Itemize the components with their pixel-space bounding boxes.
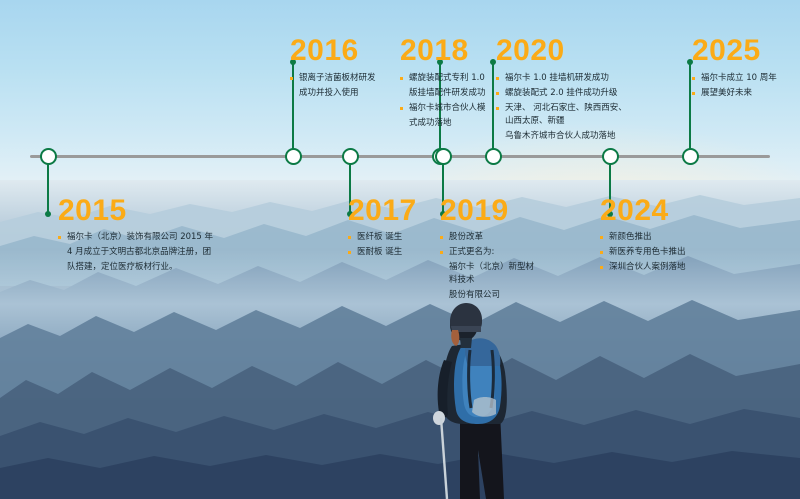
bullet-item: 福尔卡城市合伙人模 <box>400 102 492 115</box>
bullet-item: 医耐板 诞生 <box>348 246 433 259</box>
timeline-entry-2024[interactable]: 2024新颜色推出新医养专用色卡推出深圳合伙人案例落地 <box>600 196 715 276</box>
year-label-2025: 2025 <box>692 36 792 66</box>
bullet-item: 队搭建，定位医疗板材行业。 <box>58 261 223 274</box>
bullet-item: 乌鲁木齐城市合伙人成功落地 <box>496 130 631 143</box>
bullet-item: 股份有限公司 <box>440 289 535 302</box>
timeline-infographic: 2015福尔卡（北京）装饰有限公司 2015 年4 月成立于文明古都北京品牌注册… <box>0 0 800 499</box>
bullet-item: 成功并投入使用 <box>290 87 386 100</box>
timeline-node-2017[interactable] <box>342 148 359 165</box>
timeline-entry-2019[interactable]: 2019股份改革正式更名为:福尔卡（北京）新型材料技术股份有限公司 <box>440 196 535 304</box>
hiker-figure <box>408 300 558 499</box>
timeline-node-2015[interactable] <box>40 148 57 165</box>
bullet-list-2025: 福尔卡成立 10 周年展望美好未来 <box>692 72 792 100</box>
timeline-entry-2017[interactable]: 2017医纤板 诞生医耐板 诞生 <box>348 196 433 261</box>
year-label-2016: 2016 <box>290 36 386 66</box>
bullet-list-2016: 银离子洁菌板材研发成功并投入使用 <box>290 72 386 100</box>
bullet-list-2019: 股份改革正式更名为:福尔卡（北京）新型材料技术股份有限公司 <box>440 231 535 302</box>
year-label-2015: 2015 <box>58 196 223 226</box>
timeline-node-2024[interactable] <box>602 148 619 165</box>
bullet-item: 福尔卡成立 10 周年 <box>692 72 792 85</box>
bullet-item: 福尔卡（北京）装饰有限公司 2015 年 <box>58 231 223 244</box>
bullet-list-2024: 新颜色推出新医养专用色卡推出深圳合伙人案例落地 <box>600 231 715 274</box>
bullet-item: 新医养专用色卡推出 <box>600 246 715 259</box>
bullet-item: 螺旋装配式 2.0 挂件成功升级 <box>496 87 631 100</box>
bullet-list-2020: 福尔卡 1.0 挂墙机研发成功螺旋装配式 2.0 挂件成功升级天津、 河北石家庄… <box>496 72 631 143</box>
bullet-item: 医纤板 诞生 <box>348 231 433 244</box>
timeline-stem-2025 <box>689 62 691 156</box>
bullet-list-2018: 螺旋装配式专利 1.0版挂墙配件研发成功福尔卡城市合伙人模式成功落地 <box>400 72 492 130</box>
timeline-entry-2016[interactable]: 2016银离子洁菌板材研发成功并投入使用 <box>290 36 386 102</box>
bullet-item: 式成功落地 <box>400 117 492 130</box>
timeline-stem-2020 <box>492 62 494 156</box>
bullet-list-2015: 福尔卡（北京）装饰有限公司 2015 年4 月成立于文明古都北京品牌注册，团队搭… <box>58 231 223 274</box>
year-label-2017: 2017 <box>348 196 433 226</box>
bullet-item: 版挂墙配件研发成功 <box>400 87 492 100</box>
bullet-item: 福尔卡（北京）新型材料技术 <box>440 261 535 287</box>
year-label-2019: 2019 <box>440 196 535 226</box>
timeline-entry-2025[interactable]: 2025福尔卡成立 10 周年展望美好未来 <box>692 36 792 102</box>
timeline-node-2025[interactable] <box>682 148 699 165</box>
bullet-item: 正式更名为: <box>440 246 535 259</box>
bullet-item: 银离子洁菌板材研发 <box>290 72 386 85</box>
timeline-node-2019[interactable] <box>435 148 452 165</box>
year-label-2020: 2020 <box>496 36 631 66</box>
bullet-item: 螺旋装配式专利 1.0 <box>400 72 492 85</box>
bullet-item: 深圳合伙人案例落地 <box>600 261 715 274</box>
bullet-item: 新颜色推出 <box>600 231 715 244</box>
timeline-node-2016[interactable] <box>285 148 302 165</box>
year-label-2024: 2024 <box>600 196 715 226</box>
timeline-entry-2020[interactable]: 2020福尔卡 1.0 挂墙机研发成功螺旋装配式 2.0 挂件成功升级天津、 河… <box>496 36 631 145</box>
bullet-item: 股份改革 <box>440 231 535 244</box>
timeline-entry-2018[interactable]: 2018螺旋装配式专利 1.0版挂墙配件研发成功福尔卡城市合伙人模式成功落地 <box>400 36 492 132</box>
timeline-axis <box>30 155 770 158</box>
bullet-item: 天津、 河北石家庄、陕西西安、山西太原、新疆 <box>496 102 631 128</box>
bullet-item: 4 月成立于文明古都北京品牌注册，团 <box>58 246 223 259</box>
year-label-2018: 2018 <box>400 36 492 66</box>
timeline-endpoint-dot-2015 <box>45 211 51 217</box>
timeline-entry-2015[interactable]: 2015福尔卡（北京）装饰有限公司 2015 年4 月成立于文明古都北京品牌注册… <box>58 196 223 276</box>
bullet-list-2017: 医纤板 诞生医耐板 诞生 <box>348 231 433 259</box>
timeline-node-2020[interactable] <box>485 148 502 165</box>
bullet-item: 展望美好未来 <box>692 87 792 100</box>
bullet-item: 福尔卡 1.0 挂墙机研发成功 <box>496 72 631 85</box>
